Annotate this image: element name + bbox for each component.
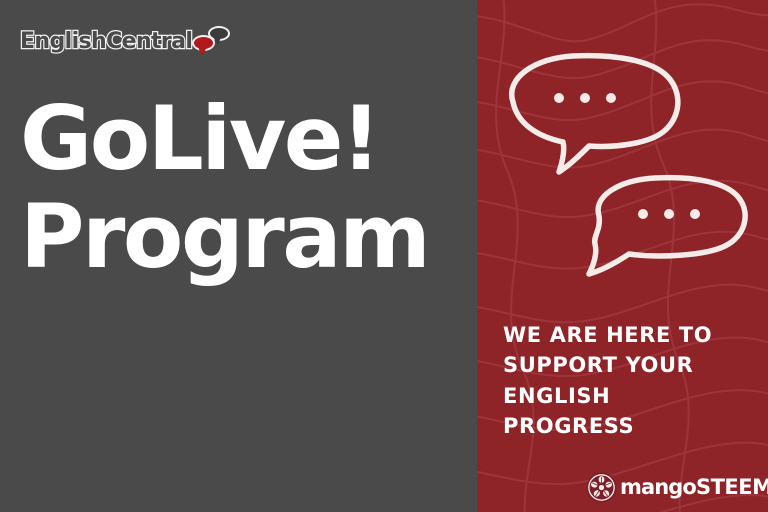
mangosteems-wordmark: mango STEEMS ® bbox=[620, 477, 768, 498]
mangosteems-lower: mango bbox=[620, 477, 696, 498]
bubble-dot bbox=[638, 209, 648, 219]
speech-bubble-red-icon bbox=[192, 35, 215, 51]
headline-line-2: Program bbox=[20, 194, 470, 280]
mangosteen-flower-icon bbox=[586, 472, 617, 503]
page-title: GoLive! Program bbox=[20, 96, 470, 280]
support-line-2: SUPPORT YOUR bbox=[503, 350, 753, 380]
mangosteems-logo[interactable]: mango STEEMS ® bbox=[586, 472, 768, 503]
englishcentral-wordmark: EnglishCentral bbox=[20, 31, 192, 53]
mangosteems-upper: STEEMS bbox=[696, 477, 768, 498]
bubble-dot bbox=[580, 93, 590, 103]
right-panel: WE ARE HERE TO SUPPORT YOUR ENGLISH PROG… bbox=[477, 0, 768, 512]
speech-bubbles-illustration bbox=[477, 40, 768, 290]
bubble-dot bbox=[690, 209, 700, 219]
support-line-1: WE ARE HERE TO bbox=[503, 320, 753, 350]
bubble-dot bbox=[554, 93, 564, 103]
bubble-dot bbox=[606, 93, 616, 103]
promotional-banner: EnglishCentral GoLive! Program bbox=[0, 0, 768, 512]
support-line-4: PROGRESS bbox=[503, 411, 753, 441]
support-line-3: ENGLISH bbox=[503, 381, 753, 411]
speech-bubble-upper-icon bbox=[512, 56, 678, 172]
speech-bubbles-icon bbox=[188, 26, 230, 58]
bubble-dot bbox=[664, 209, 674, 219]
support-message: WE ARE HERE TO SUPPORT YOUR ENGLISH PROG… bbox=[503, 320, 753, 442]
left-panel: EnglishCentral GoLive! Program bbox=[0, 0, 477, 512]
headline-line-1: GoLive! bbox=[20, 96, 470, 182]
speech-bubble-lower-icon bbox=[589, 178, 745, 274]
englishcentral-logo[interactable]: EnglishCentral bbox=[20, 24, 230, 60]
